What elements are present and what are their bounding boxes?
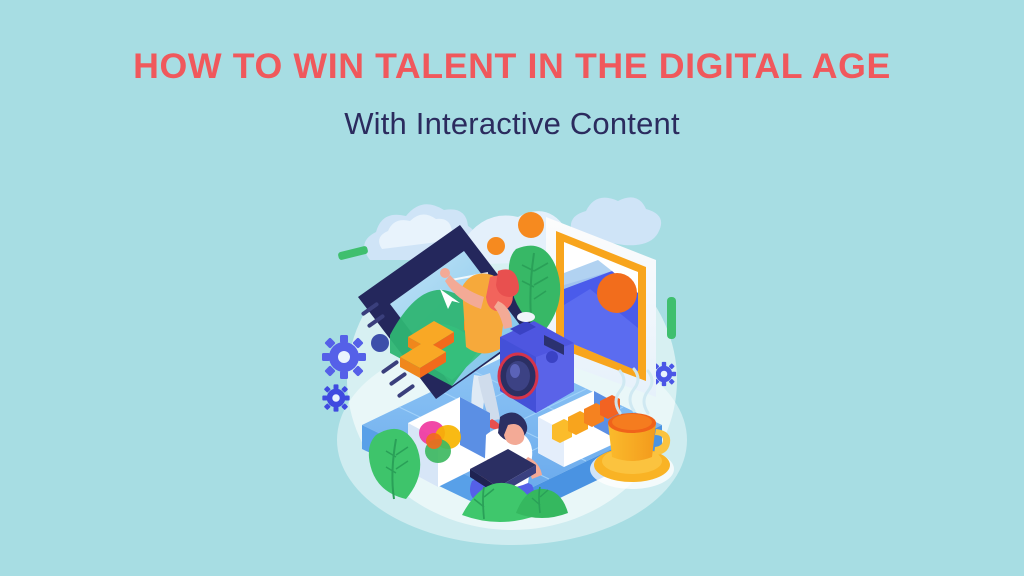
slide-canvas: HOW TO WIN TALENT IN THE DIGITAL AGE Wit… bbox=[0, 0, 1024, 576]
hero-illustration bbox=[312, 185, 712, 555]
isometric-workspace-graphic bbox=[312, 185, 712, 555]
page-title: HOW TO WIN TALENT IN THE DIGITAL AGE bbox=[0, 46, 1024, 87]
title-block: HOW TO WIN TALENT IN THE DIGITAL AGE Wit… bbox=[0, 46, 1024, 142]
page-subtitle: With Interactive Content bbox=[0, 105, 1024, 142]
